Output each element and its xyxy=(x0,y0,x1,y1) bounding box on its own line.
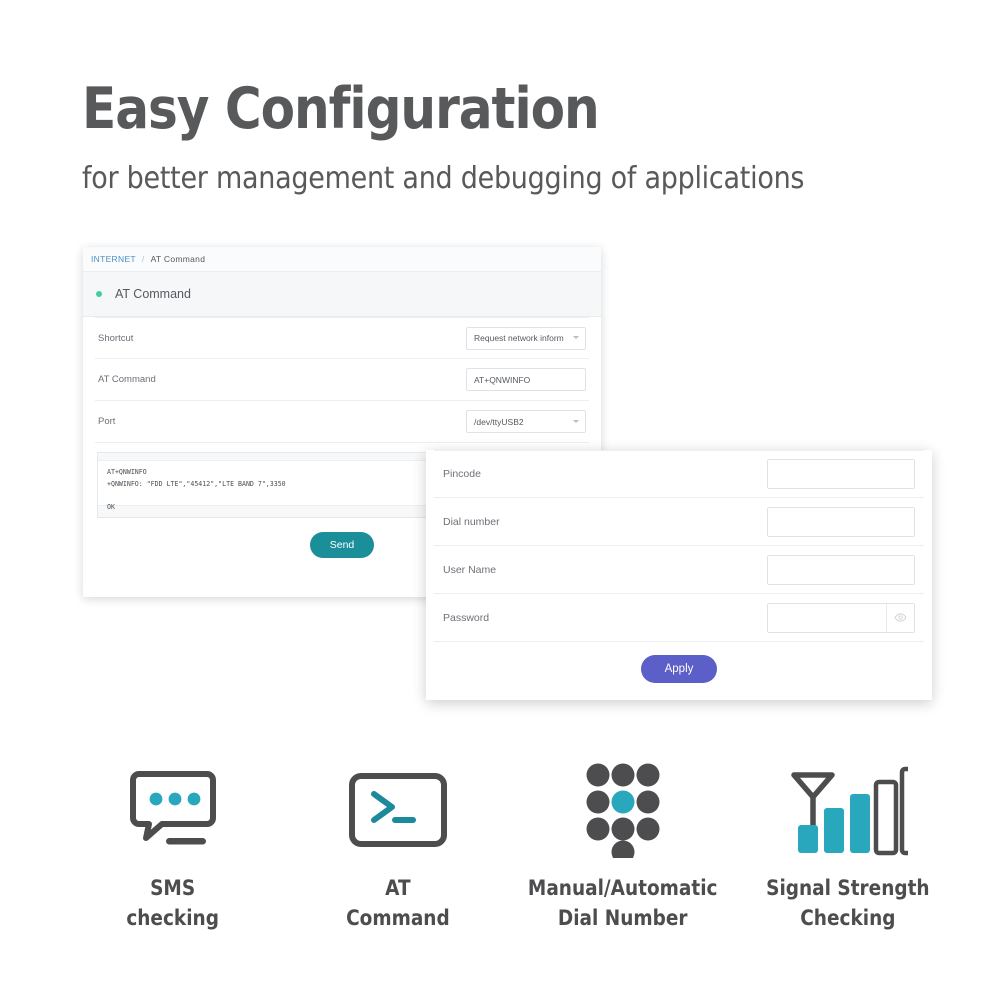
user-name-label: User Name xyxy=(443,564,767,576)
pincode-value xyxy=(768,460,914,488)
feature-label: AT Command xyxy=(346,874,450,934)
dial-settings-panel: Pincode Dial number User Name Password xyxy=(426,450,932,700)
dial-number-input[interactable] xyxy=(767,507,915,537)
feature-label-line1: Signal Strength xyxy=(766,874,929,904)
dial-number-value xyxy=(768,508,914,536)
port-label: Port xyxy=(98,416,466,427)
user-name-input[interactable] xyxy=(767,555,915,585)
port-select[interactable]: /dev/ttyUSB2 xyxy=(466,410,586,433)
feature-label-line2: Checking xyxy=(766,904,929,934)
feature-label: Manual/Automatic Dial Number xyxy=(528,874,718,934)
feature-label: SMS checking xyxy=(126,874,219,934)
form-row-pincode: Pincode xyxy=(434,450,924,498)
feature-label-line2: Dial Number xyxy=(528,904,718,934)
terminal-prompt-icon xyxy=(348,760,448,860)
panel-header: AT Command xyxy=(83,272,601,317)
feature-label-line2: checking xyxy=(126,904,219,934)
signal-bars-icon xyxy=(788,760,908,860)
apply-button-row: Apply xyxy=(434,655,924,683)
user-name-value xyxy=(768,556,914,584)
form-row-dial-number: Dial number xyxy=(434,498,924,546)
password-value xyxy=(768,604,886,632)
shortcut-value: Request network inform xyxy=(474,333,564,343)
green-dot-icon xyxy=(96,291,102,297)
password-label: Password xyxy=(443,612,767,624)
breadcrumb: INTERNET / AT Command xyxy=(83,247,601,272)
feature-signal-strength: Signal Strength Checking xyxy=(735,760,960,934)
form-row-at-command: AT Command AT+QNWINFO xyxy=(95,359,589,401)
eye-icon[interactable] xyxy=(886,604,914,632)
feature-dial-number: Manual/Automatic Dial Number xyxy=(510,760,735,934)
dial-number-label: Dial number xyxy=(443,516,767,528)
breadcrumb-item-at-command: AT Command xyxy=(151,254,206,264)
send-button[interactable]: Send xyxy=(310,532,375,558)
shortcut-select[interactable]: Request network inform xyxy=(466,327,586,350)
pincode-input[interactable] xyxy=(767,459,915,489)
chevron-down-icon xyxy=(573,420,579,423)
form-row-port: Port /dev/ttyUSB2 xyxy=(95,401,589,443)
at-command-label: AT Command xyxy=(98,374,466,385)
breadcrumb-separator: / xyxy=(142,254,145,264)
at-command-input[interactable]: AT+QNWINFO xyxy=(466,368,586,391)
form-row-shortcut: Shortcut Request network inform xyxy=(95,317,589,359)
dial-pad-icon xyxy=(585,760,661,860)
sms-bubble-icon xyxy=(130,760,216,860)
shortcut-label: Shortcut xyxy=(98,333,466,344)
feature-label-line1: AT xyxy=(346,874,450,904)
chevron-down-icon xyxy=(573,336,579,339)
feature-list: SMS checking AT Command xyxy=(60,760,960,934)
panel-header-title: AT Command xyxy=(115,287,191,301)
feature-at-command: AT Command xyxy=(285,760,510,934)
at-command-value: AT+QNWINFO xyxy=(474,375,530,385)
apply-button[interactable]: Apply xyxy=(641,655,718,683)
password-input[interactable] xyxy=(767,603,915,633)
form-row-user-name: User Name xyxy=(434,546,924,594)
port-value: /dev/ttyUSB2 xyxy=(474,417,524,427)
feature-label-line1: Manual/Automatic xyxy=(528,874,718,904)
breadcrumb-item-internet[interactable]: INTERNET xyxy=(91,254,136,264)
feature-sms-checking: SMS checking xyxy=(60,760,285,934)
form-row-password: Password xyxy=(434,594,924,642)
feature-label-line2: Command xyxy=(346,904,450,934)
pincode-label: Pincode xyxy=(443,468,767,480)
feature-label-line1: SMS xyxy=(126,874,219,904)
feature-label: Signal Strength Checking xyxy=(766,874,929,934)
